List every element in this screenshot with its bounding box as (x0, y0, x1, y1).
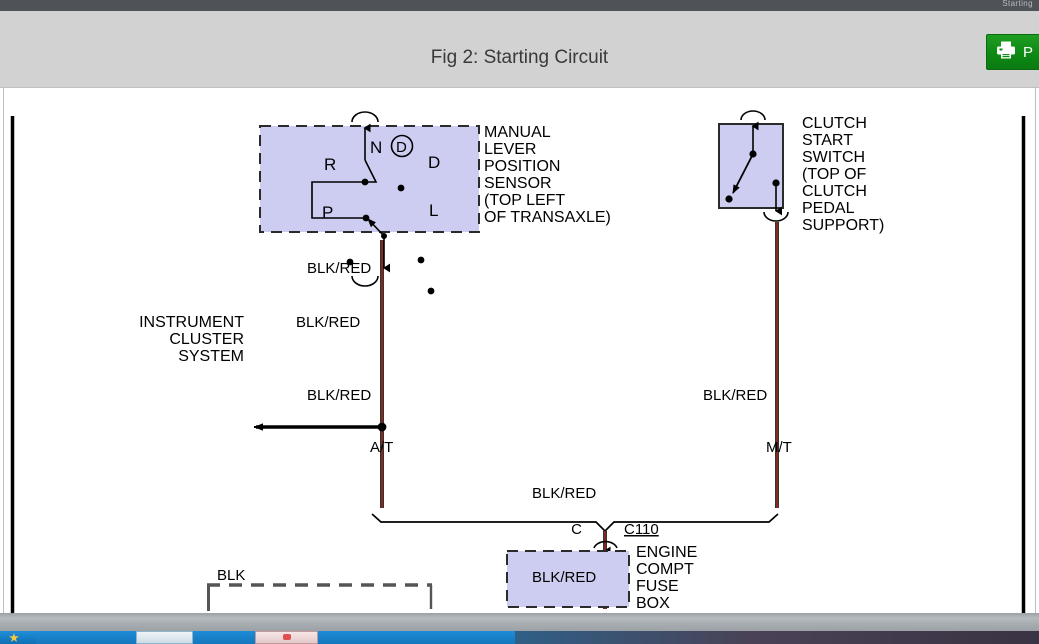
destination-line-2: CLUSTER (169, 331, 244, 348)
clutch-switch-box (719, 124, 783, 208)
taskbar[interactable] (0, 631, 1039, 644)
clutch-caption-line-5: CLUTCH (802, 183, 867, 200)
taskbar-window-button-1[interactable] (136, 631, 193, 644)
wire-label-blkred-1: BLK/RED (307, 260, 371, 277)
page-title: Fig 2: Starting Circuit (0, 47, 1039, 69)
figure-header-bar: Fig 2: Starting Circuit P (0, 11, 1039, 88)
fuse-box-caption-line-1: ENGINE (636, 544, 697, 561)
wire-label-blkred-5: BLK/RED (532, 485, 596, 502)
clutch-caption-line-7: SUPPORT) (802, 217, 884, 234)
mlps-caption-line-2: LEVER (484, 141, 536, 158)
clutch-top-connector-arc (741, 111, 765, 120)
fuse-box-caption-line-4: BOX (636, 595, 670, 612)
browser-tab-title[interactable]: Starting (1002, 0, 1033, 8)
component-engine-compt-fuse-box[interactable]: BLK/RED ENGINE COMPT FUSE BOX (507, 544, 697, 612)
browser-top-strip: Starting (0, 0, 1039, 11)
clutch-caption-line-2: START (802, 132, 853, 149)
mlps-wiper-pivot (381, 233, 387, 239)
mlps-contact-p-dot (363, 215, 370, 222)
component-clutch-start-switch[interactable]: CLUTCH START SWITCH (TOP OF CLUTCH PEDAL… (719, 111, 884, 234)
mlps-contact-l-dot (428, 288, 435, 295)
destination-instrument-cluster[interactable]: INSTRUMENT CLUSTER SYSTEM (139, 314, 244, 365)
ground-block-label: BLK (217, 567, 245, 584)
clutch-caption-line-1: CLUTCH (802, 115, 867, 132)
clutch-bottom-connector-arc (764, 212, 788, 221)
mlps-top-connector-arc (352, 112, 378, 122)
fuse-box-inner-label: BLK/RED (532, 569, 596, 586)
fuse-box-caption-line-3: FUSE (636, 578, 679, 595)
mlps-label-r: R (324, 155, 336, 174)
mlps-caption-line-6: OF TRANSAXLE) (484, 209, 611, 226)
mlps-label-l: L (429, 201, 438, 220)
wiring-diagram: N D R D P L MANUAL LEVER POSITION SENSOR… (4, 88, 1035, 613)
wire-label-blkred-4: BLK/RED (703, 387, 767, 404)
branch-label-at: A/T (370, 439, 393, 456)
destination-line-3: SYSTEM (178, 348, 244, 365)
printer-icon (995, 40, 1017, 65)
splice-junction-dot (378, 423, 387, 432)
mlps-contact-n-dot (362, 179, 369, 186)
wire-label-blkred-3: BLK/RED (307, 387, 371, 404)
clutch-caption: CLUTCH START SWITCH (TOP OF CLUTCH PEDAL… (802, 115, 884, 234)
mlps-caption: MANUAL LEVER POSITION SENSOR (TOP LEFT O… (484, 124, 611, 226)
diagram-page: N D R D P L MANUAL LEVER POSITION SENSOR… (3, 88, 1036, 613)
wire-label-blkred-2: BLK/RED (296, 314, 360, 331)
taskbar-notification-area (515, 631, 1039, 644)
mlps-bottom-connector-arc (352, 276, 378, 286)
branch-label-mt: M/T (766, 439, 792, 456)
mlps-label-d-circled: D (396, 139, 407, 156)
mlps-contact-dcirc-dot (398, 185, 405, 192)
clutch-contact-upper (749, 150, 756, 157)
clutch-contact-lower (725, 195, 732, 202)
mlps-caption-line-4: SENSOR (484, 175, 552, 192)
clutch-caption-line-3: SWITCH (802, 149, 865, 166)
connector-id-label: C110 (624, 521, 659, 538)
connector-pin-label: C (571, 521, 582, 538)
component-ground-block[interactable]: BLK (207, 567, 432, 611)
taskbar-window-icon-2 (283, 634, 291, 640)
clutch-caption-line-6: PEDAL (802, 200, 855, 217)
mlps-label-p: P (322, 203, 333, 222)
fuse-box-caption: ENGINE COMPT FUSE BOX (636, 544, 697, 612)
taskbar-start-button[interactable] (0, 631, 36, 644)
print-button[interactable]: P (986, 34, 1039, 70)
destination-line-1: INSTRUMENT (139, 314, 244, 331)
mlps-label-d: D (428, 153, 440, 172)
mlps-caption-line-5: (TOP LEFT (484, 192, 565, 209)
fuse-box-caption-line-2: COMPT (636, 561, 694, 578)
mlps-contact-d-dot (418, 257, 425, 264)
print-button-label: P (1023, 44, 1033, 61)
desktop-background-strip (0, 613, 1039, 631)
mlps-label-n: N (370, 138, 382, 157)
mlps-caption-line-1: MANUAL (484, 124, 551, 141)
clutch-caption-line-4: (TOP OF (802, 166, 867, 183)
mlps-caption-line-3: POSITION (484, 158, 560, 175)
